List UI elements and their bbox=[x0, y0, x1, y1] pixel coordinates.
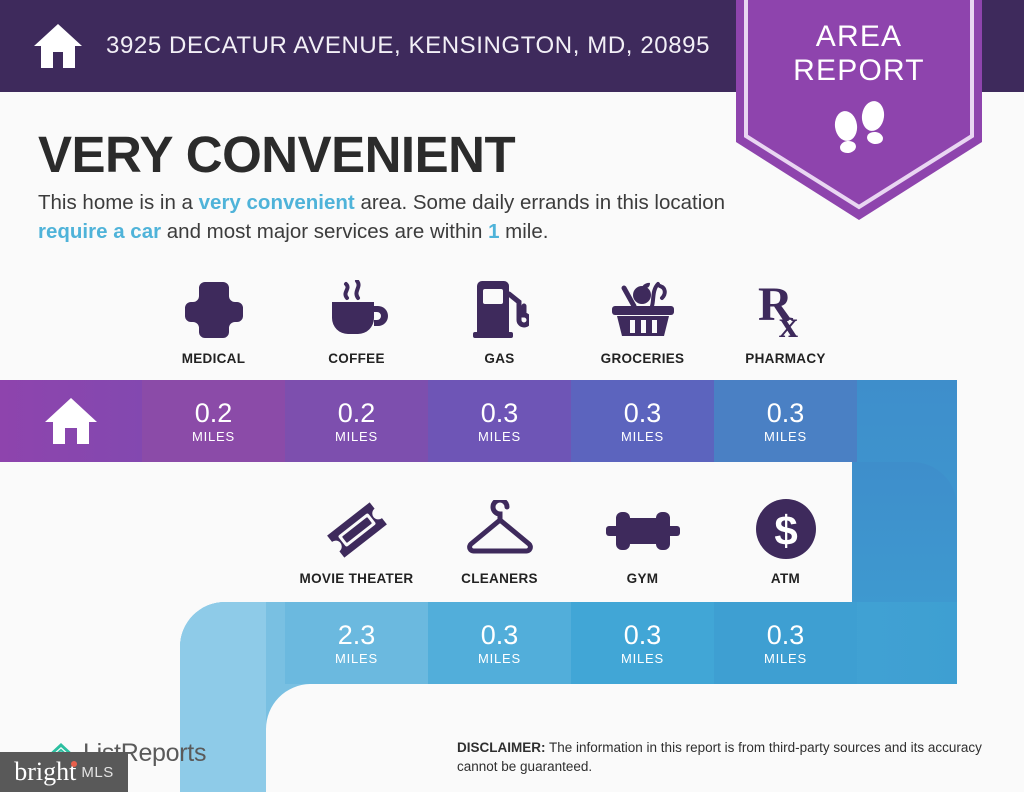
page-title: VERY CONVENIENT bbox=[38, 125, 515, 185]
dumbbell-icon bbox=[604, 498, 682, 560]
distance-cell-groceries: 0.3 MILES bbox=[571, 380, 714, 462]
distance-value: 0.3 bbox=[624, 399, 662, 428]
distance-unit: MILES bbox=[478, 651, 521, 666]
movie-ticket-icon bbox=[324, 498, 390, 560]
disclaimer: DISCLAIMER: The information in this repo… bbox=[457, 738, 1002, 776]
origin-home-cell bbox=[0, 380, 142, 462]
distance-cell-pharmacy: 0.3 MILES bbox=[714, 380, 857, 462]
amenity-label: CLEANERS bbox=[461, 571, 538, 586]
distance-value: 2.3 bbox=[338, 621, 376, 650]
distance-unit: MILES bbox=[764, 429, 807, 444]
amenity-label: MOVIE THEATER bbox=[300, 571, 414, 586]
amenity-label: MEDICAL bbox=[182, 351, 246, 366]
distance-unit: MILES bbox=[764, 651, 807, 666]
coffee-cup-icon bbox=[324, 278, 390, 340]
distance-value: 0.3 bbox=[767, 399, 805, 428]
pharmacy-rx-icon: R x bbox=[757, 278, 815, 340]
distance-unit: MILES bbox=[192, 429, 235, 444]
distance-value: 0.3 bbox=[767, 621, 805, 650]
distance-unit: MILES bbox=[621, 429, 664, 444]
distance-value: 0.3 bbox=[624, 621, 662, 650]
distance-cell-gym: 0.3 MILES bbox=[571, 602, 714, 684]
amenity-icon-row-1: MEDICAL COFFEE bbox=[142, 278, 857, 366]
distance-bar-row-2: 2.3 MILES 0.3 MILES 0.3 MILES 0.3 MILES bbox=[285, 602, 857, 684]
amenity-label: GYM bbox=[627, 571, 659, 586]
area-report-badge: AREA REPORT bbox=[736, 0, 982, 220]
amenity-label: ATM bbox=[771, 571, 800, 586]
gas-pump-icon bbox=[471, 278, 529, 340]
amenity-groceries: GROCERIES bbox=[571, 278, 714, 366]
desc-part-3: and most major services are within bbox=[161, 220, 488, 243]
amenity-cleaners: CLEANERS bbox=[428, 498, 571, 586]
desc-highlight-1: very convenient bbox=[199, 191, 355, 214]
amenity-icon-row-2: MOVIE THEATER CLEANERS GYM bbox=[285, 498, 857, 586]
amenity-movie-theater: MOVIE THEATER bbox=[285, 498, 428, 586]
disclaimer-label: DISCLAIMER: bbox=[457, 740, 546, 755]
distance-unit: MILES bbox=[478, 429, 521, 444]
desc-part-1: This home is in a bbox=[38, 191, 199, 214]
grocery-basket-icon bbox=[608, 278, 678, 340]
distance-cell-gas: 0.3 MILES bbox=[428, 380, 571, 462]
amenity-label: GROCERIES bbox=[601, 351, 685, 366]
distance-cell-medical: 0.2 MILES bbox=[142, 380, 285, 462]
distance-value: 0.2 bbox=[195, 399, 233, 428]
distance-cell-atm: 0.3 MILES bbox=[714, 602, 857, 684]
svg-text:x: x bbox=[779, 304, 798, 340]
desc-highlight-3: 1 bbox=[488, 220, 499, 243]
area-report-page: 3925 DECATUR AVENUE, KENSINGTON, MD, 208… bbox=[0, 0, 1024, 792]
distance-value: 0.3 bbox=[481, 399, 519, 428]
amenity-coffee: COFFEE bbox=[285, 278, 428, 366]
desc-highlight-2: require a car bbox=[38, 220, 161, 243]
amenity-label: COFFEE bbox=[328, 351, 385, 366]
bright-mls-watermark: bright MLS bbox=[0, 752, 128, 792]
badge-title: AREA REPORT bbox=[736, 20, 982, 88]
watermark-brand: bright bbox=[14, 757, 76, 787]
distance-cell-movie-theater: 2.3 MILES bbox=[285, 602, 428, 684]
amenity-medical: MEDICAL bbox=[142, 278, 285, 366]
distance-bar-row-1: 0.2 MILES 0.2 MILES 0.3 MILES 0.3 MILES … bbox=[142, 380, 857, 462]
amenity-gym: GYM bbox=[571, 498, 714, 586]
amenity-pharmacy: R x PHARMACY bbox=[714, 278, 857, 366]
distance-cell-cleaners: 0.3 MILES bbox=[428, 602, 571, 684]
footprints-icon bbox=[736, 100, 982, 166]
distance-value: 0.2 bbox=[338, 399, 376, 428]
badge-line-2: REPORT bbox=[736, 54, 982, 88]
home-icon bbox=[32, 20, 84, 72]
property-address: 3925 DECATUR AVENUE, KENSINGTON, MD, 208… bbox=[106, 32, 710, 60]
distance-unit: MILES bbox=[621, 651, 664, 666]
distance-cell-coffee: 0.2 MILES bbox=[285, 380, 428, 462]
desc-part-4: mile. bbox=[499, 220, 548, 243]
amenity-gas: GAS bbox=[428, 278, 571, 366]
amenity-label: PHARMACY bbox=[745, 351, 825, 366]
home-icon bbox=[43, 395, 99, 447]
distance-unit: MILES bbox=[335, 651, 378, 666]
desc-part-2: area. Some daily errands in this locatio… bbox=[355, 191, 725, 214]
medical-cross-icon bbox=[183, 278, 245, 340]
amenity-label: GAS bbox=[484, 351, 514, 366]
description-text: This home is in a very convenient area. … bbox=[38, 188, 728, 246]
distance-value: 0.3 bbox=[481, 621, 519, 650]
badge-line-1: AREA bbox=[816, 20, 903, 53]
distance-unit: MILES bbox=[335, 429, 378, 444]
clothes-hanger-icon bbox=[463, 498, 537, 560]
atm-dollar-icon: $ bbox=[755, 498, 817, 560]
watermark-suffix: MLS bbox=[81, 764, 113, 781]
amenity-atm: $ ATM bbox=[714, 498, 857, 586]
svg-text:$: $ bbox=[774, 507, 797, 554]
